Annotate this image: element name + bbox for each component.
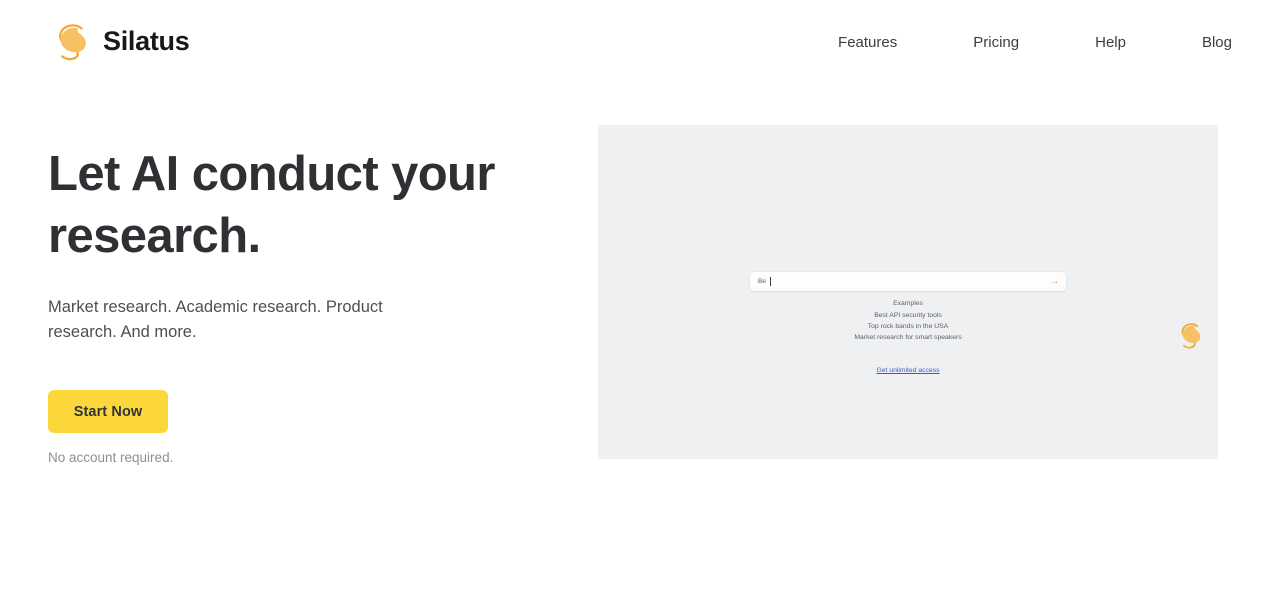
start-now-button[interactable]: Start Now (48, 390, 168, 433)
text-caret (770, 277, 771, 286)
nav-item-blog[interactable]: Blog (1202, 32, 1232, 53)
nav-item-features[interactable]: Features (838, 32, 897, 53)
get-unlimited-access-link[interactable]: Get unlimited access (876, 367, 939, 374)
arrow-right-icon[interactable]: → (1048, 275, 1061, 288)
silatus-s-logo-icon (48, 18, 94, 64)
app-preview-inner: → Examples Best API security tools Top r… (598, 125, 1218, 459)
example-query-item[interactable]: Market research for smart speakers (598, 334, 1218, 341)
nav-item-help[interactable]: Help (1095, 32, 1126, 53)
nav-item-pricing[interactable]: Pricing (973, 32, 1019, 53)
hero-copy: Let AI conduct your research. (48, 143, 548, 267)
brand-home-link[interactable]: Silatus (48, 18, 189, 64)
example-query-item[interactable]: Best API security tools (598, 312, 1218, 319)
cta-note: No account required. (48, 450, 173, 465)
examples-heading: Examples (598, 300, 1218, 307)
silatus-s-logo-icon (885, 222, 921, 254)
app-preview-panel: → Examples Best API security tools Top r… (598, 125, 1218, 459)
preview-search-bar[interactable]: → (750, 272, 1066, 291)
upsell-container: Get unlimited access (598, 359, 1218, 377)
example-query-item[interactable]: Top rock bands in the USA (598, 323, 1218, 330)
site-header: Silatus Features Pricing Help Blog (0, 0, 1280, 85)
brand-name: Silatus (103, 28, 189, 55)
search-input[interactable] (758, 272, 1038, 291)
main-nav: Features Pricing Help Blog (838, 32, 1232, 53)
hero-subtitle: Market research. Academic research. Prod… (48, 295, 428, 345)
page-title: Let AI conduct your research. (48, 143, 548, 267)
